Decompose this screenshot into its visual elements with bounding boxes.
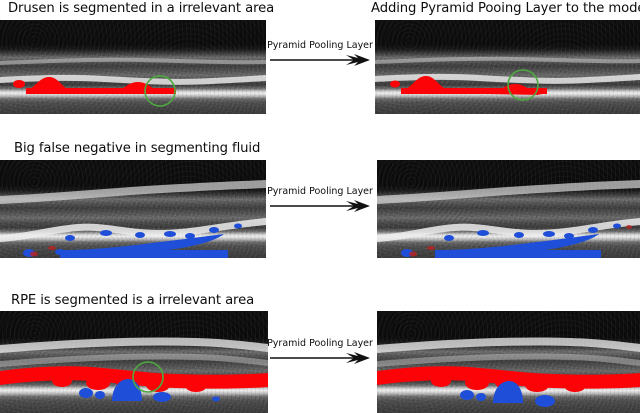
arrow-label-row1: Pyramid Pooling Layer — [267, 40, 373, 51]
segmentation-overlay — [0, 20, 266, 114]
oct-scan-after-rpe[interactable] — [377, 311, 640, 413]
arrow-row3: Pyramid Pooling Layer — [268, 338, 372, 364]
inner-layer-band — [377, 180, 640, 204]
arrow-icon — [268, 52, 372, 66]
arrow-label-row2: Pyramid Pooling Layer — [267, 186, 373, 197]
caption-row3-left: RPE is segmented is a irrelevant area — [11, 293, 254, 308]
caption-row1-left: Drusen is segmented in a irrelevant area — [8, 1, 274, 16]
onl-band — [0, 353, 268, 367]
inner-layer-band — [0, 58, 266, 65]
segmentation-overlay — [0, 311, 268, 413]
segmentation-overlay — [0, 160, 266, 258]
arrow-row1: Pyramid Pooling Layer — [268, 40, 372, 66]
segmentation-overlay — [377, 311, 640, 413]
inner-layer-band — [377, 337, 640, 353]
arrow-label-row3: Pyramid Pooling Layer — [267, 338, 373, 349]
oct-scan-before-fluid[interactable] — [0, 160, 266, 258]
comparison-figure: Drusen is segmented in a irrelevant area… — [0, 0, 640, 413]
arrow-row2: Pyramid Pooling Layer — [268, 186, 372, 212]
inner-layer-band — [375, 57, 640, 64]
rpe-band-bright — [377, 218, 640, 242]
oct-scan-after-fluid[interactable] — [377, 160, 640, 258]
oct-scan-before-rpe[interactable] — [0, 311, 268, 413]
caption-row1-right: Adding Pyramid Pooing Layer to the model — [371, 1, 640, 16]
rpe-band-bright — [0, 218, 266, 242]
arrow-icon — [268, 198, 372, 212]
arrow-icon — [268, 350, 372, 364]
caption-row2-left: Big false negative in segmenting fluid — [14, 141, 260, 156]
oct-scan-after-drusen[interactable] — [375, 20, 640, 114]
segmentation-overlay — [377, 160, 640, 258]
inner-layer-band — [0, 180, 266, 204]
oct-scan-before-drusen[interactable] — [0, 20, 266, 114]
inner-layer-band — [0, 337, 268, 353]
segmentation-overlay — [375, 20, 640, 114]
onl-band — [377, 353, 640, 367]
